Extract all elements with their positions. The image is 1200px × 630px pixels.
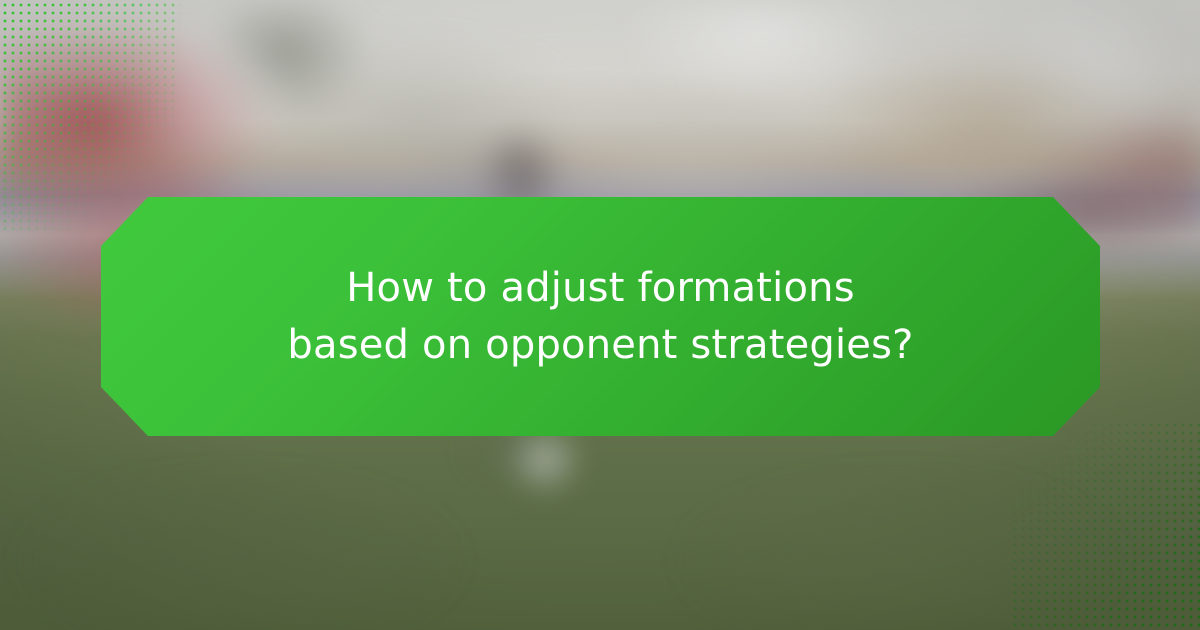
poster-canvas: How to adjust formations based on oppone… — [0, 0, 1200, 630]
title-banner: How to adjust formations based on oppone… — [101, 197, 1100, 436]
page-title: How to adjust formations based on oppone… — [281, 260, 921, 374]
